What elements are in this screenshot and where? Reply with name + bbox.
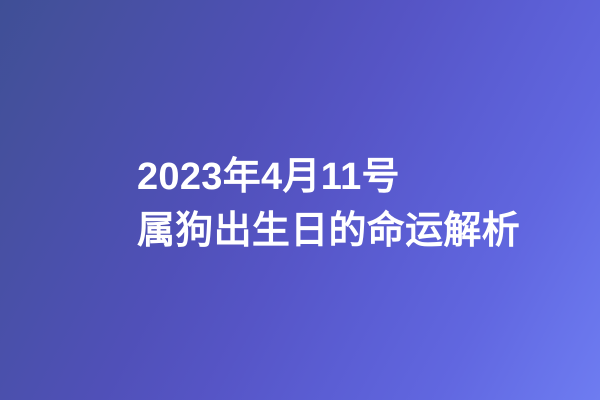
headline-line-1: 2023年4月11号 bbox=[137, 150, 567, 204]
title-card-banner: 2023年4月11号 属狗出生日的命运解析 bbox=[0, 0, 600, 400]
headline-text-block: 2023年4月11号 属狗出生日的命运解析 bbox=[137, 150, 567, 258]
headline-line-2: 属狗出生日的命运解析 bbox=[137, 204, 567, 258]
